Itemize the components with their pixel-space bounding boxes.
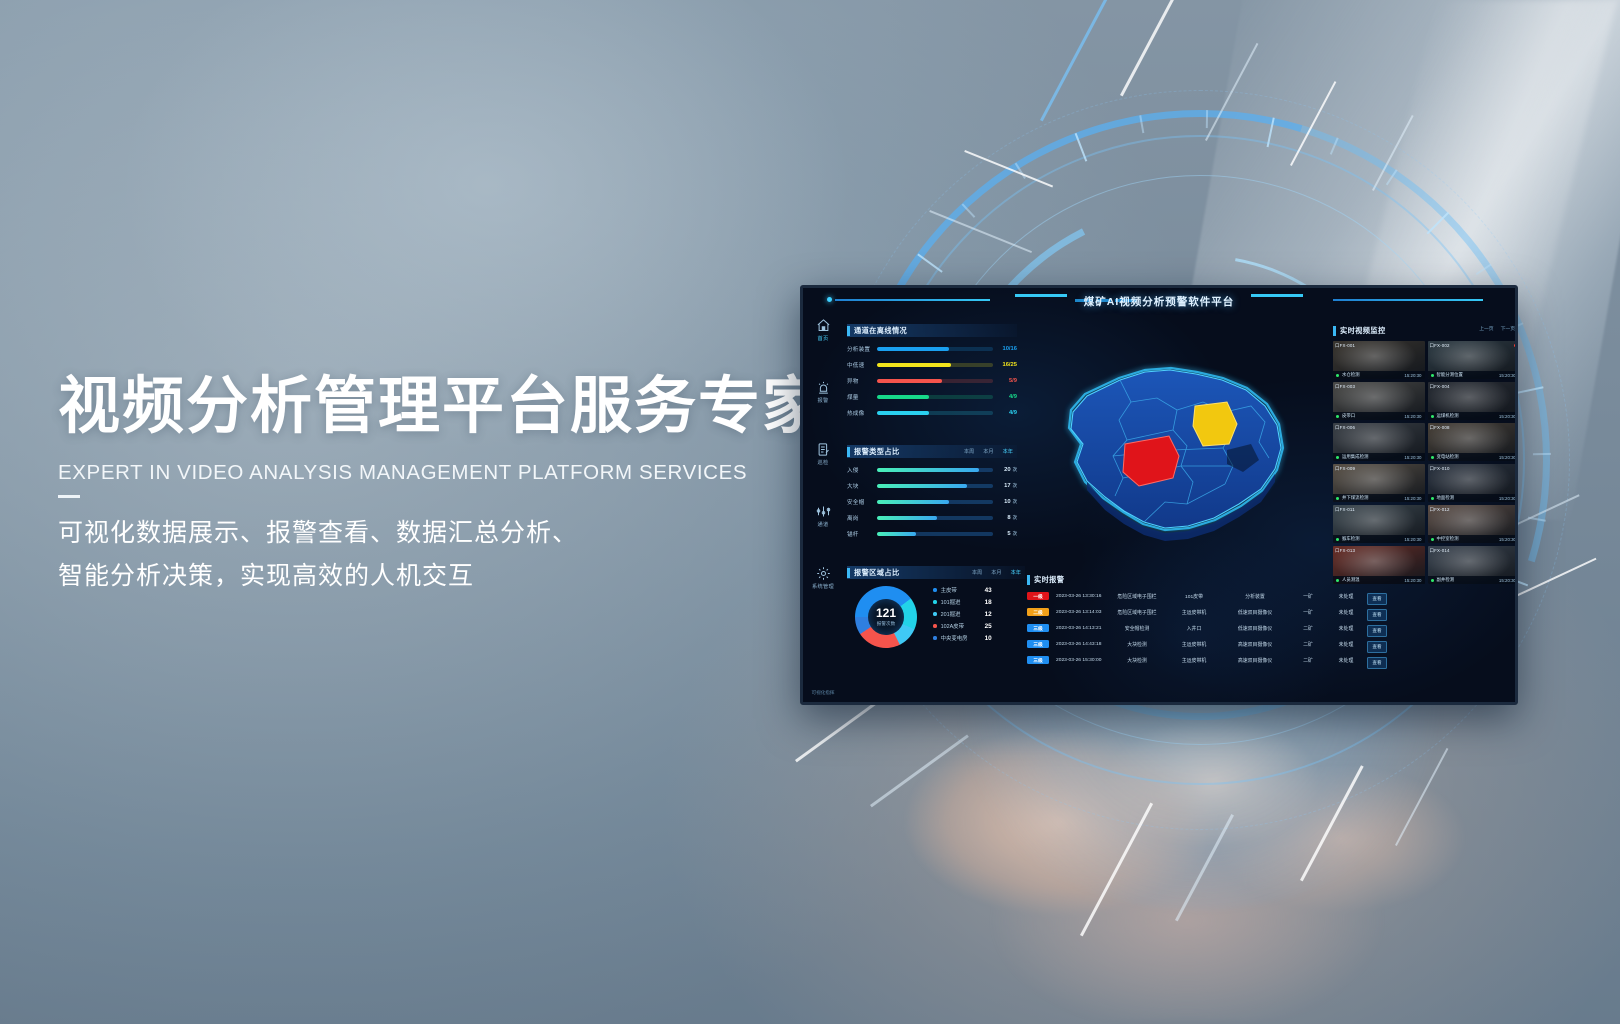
- alarm-time: 2023-03-26 13:30:16: [1056, 594, 1108, 599]
- camera-name: 猴车检测: [1342, 536, 1404, 542]
- legend-value: 43: [985, 587, 992, 594]
- progress-fill: [877, 411, 929, 416]
- panel-channel-status: 通道在离线情况 分析装置10/16中低速16/25异物5/9煤量4/9热成像4/…: [847, 324, 1017, 421]
- channel-row: 热成像4/9: [847, 405, 1017, 421]
- alarm-time: 2023-03-26 15:30:00: [1056, 658, 1108, 663]
- legend-color-dot: [933, 612, 937, 616]
- alarm-mine: 一矿: [1288, 609, 1328, 616]
- alarm-type: 安全帽检测: [1108, 625, 1166, 632]
- channel-label: 异物: [847, 377, 877, 385]
- alarm-status: 未处理: [1328, 593, 1364, 600]
- progress-fill: [877, 363, 951, 368]
- china-province-map[interactable]: [1027, 332, 1327, 567]
- channel-value: 10/16: [993, 346, 1017, 352]
- alarm-status: 未处理: [1328, 657, 1364, 664]
- camera-code: 口FX-010: [1430, 466, 1450, 472]
- ring-tick: [1476, 263, 1492, 275]
- map-svg: [1027, 332, 1327, 567]
- progress-fill: [877, 516, 937, 521]
- panel-video-monitor: 实时视频监控 上一页 下一页 口FX-001水仓检测15:20:30口FX-00…: [1333, 324, 1518, 584]
- alarm-table: 一级2023-03-26 13:30:16危险区域电子围栏101皮带分析装置一矿…: [1027, 588, 1518, 668]
- alarm-type-row: 锚杆5次: [847, 526, 1017, 542]
- alarm-type: 危险区域电子围栏: [1108, 593, 1166, 600]
- status-badge: 一级: [1027, 592, 1049, 601]
- camera-name: 变电站检测: [1437, 454, 1499, 460]
- alarm-mine: 一矿: [1288, 593, 1328, 600]
- ring-tick: [1514, 386, 1544, 394]
- video-grid: 口FX-001水仓检测15:20:30口FX-002智能分测位置15:20:30…: [1333, 341, 1518, 584]
- legend-item: 102A皮带25: [933, 620, 1023, 632]
- status-badge: 二级: [1027, 608, 1049, 617]
- ring-tick: [1533, 453, 1551, 455]
- channel-row: 异物5/9: [847, 373, 1017, 389]
- camera-name: 皮带口: [1342, 413, 1404, 419]
- sidebar-item-gear[interactable]: 系统管理: [803, 566, 843, 590]
- progress-fill: [877, 500, 949, 505]
- camera-time: 15:20:30: [1404, 414, 1421, 419]
- hero-desc-line-2: 智能分析决策，实现高效的人机交互: [58, 555, 818, 598]
- progress-bar: [877, 468, 993, 473]
- panel-header: 报警区域占比 本周本月本年: [847, 566, 1025, 579]
- panel-title: 报警区域占比: [854, 568, 900, 578]
- progress-bar: [877, 411, 993, 416]
- monitor-stand: [1104, 702, 1214, 705]
- alarm-type-label: 安全帽: [847, 498, 877, 506]
- unit-label: 次: [1013, 531, 1017, 536]
- table-row[interactable]: 三级2023-03-26 15:30:00大块检测主运皮带机高速双目摄像仪二矿未…: [1027, 652, 1518, 668]
- camera-code: 口FX-014: [1430, 548, 1450, 554]
- video-tile[interactable]: 口FX-008变电站检测15:20:30: [1428, 423, 1519, 461]
- unit-label: 次: [1013, 515, 1017, 520]
- online-status-dot: [1431, 456, 1434, 459]
- legend-item: 中央变电房10: [933, 632, 1023, 644]
- video-caption-bar: 皮带口15:20:30: [1333, 412, 1425, 420]
- camera-time: 15:20:30: [1499, 496, 1516, 501]
- alarm-type-label: 大块: [847, 482, 877, 490]
- panel-header: 实时视频监控 上一页 下一页: [1333, 324, 1518, 337]
- camera-code: 口FX-008: [1430, 425, 1450, 431]
- video-tile[interactable]: 口FX-004运煤机检测15:20:30: [1428, 382, 1519, 420]
- tab-本年[interactable]: 本年: [1003, 448, 1013, 455]
- alarm-type-value: 17次: [993, 483, 1017, 489]
- alarm-type-value: 20次: [993, 467, 1017, 473]
- legend-label: 中央变电房: [941, 634, 985, 642]
- camera-time: 15:20:30: [1404, 455, 1421, 460]
- panel-title: 报警类型占比: [854, 447, 900, 457]
- panel-header: 通道在离线情况: [847, 324, 1017, 337]
- table-row[interactable]: 一级2023-03-26 13:30:16危险区域电子围栏101皮带分析装置一矿…: [1027, 588, 1518, 604]
- online-status-dot: [1336, 538, 1339, 541]
- legend-label: 101掘进: [941, 598, 985, 606]
- legend-item: 101掘进18: [933, 596, 1023, 608]
- dashboard-title: 煤矿AI视频分析预警软件平台: [803, 294, 1515, 309]
- alarm-device: 低速双目摄像仪: [1222, 625, 1288, 632]
- alarm-type-row: 安全帽10次: [847, 494, 1017, 510]
- channel-row: 中低速16/25: [847, 357, 1017, 373]
- tab-本周[interactable]: 本周: [964, 448, 974, 455]
- tab-本月[interactable]: 本月: [991, 569, 1001, 576]
- progress-bar: [877, 500, 993, 505]
- panel-title: 实时报警: [1034, 575, 1064, 585]
- panel-realtime-alarm: 实时报警 一级2023-03-26 13:30:16危险区域电子围栏101皮带分…: [1027, 573, 1518, 668]
- screen-topbar: 煤矿AI视频分析预警软件平台: [803, 288, 1515, 316]
- status-badge: 三级: [1027, 656, 1049, 665]
- hero-desc-line-1: 可视化数据展示、报警查看、数据汇总分析、: [58, 512, 818, 555]
- video-caption-bar: 地面检测15:20:30: [1428, 494, 1519, 502]
- alarm-type-row: 大块17次: [847, 478, 1017, 494]
- legend-value: 25: [985, 623, 992, 630]
- progress-fill: [877, 532, 916, 537]
- tab-本周[interactable]: 本周: [972, 569, 982, 576]
- video-caption-bar: 水仓检测15:20:30: [1333, 371, 1425, 379]
- sidebar-item-label: 报警: [803, 397, 843, 404]
- ring-tick: [1206, 110, 1208, 128]
- alarm-device: 高速双目摄像仪: [1222, 657, 1288, 664]
- channel-row: 煤量4/9: [847, 389, 1017, 405]
- alarm-device: 分析装置: [1222, 593, 1288, 600]
- camera-code: 口FX-001: [1335, 343, 1355, 349]
- video-caption-bar: 运用集成检测15:20:30: [1333, 453, 1425, 461]
- legend-value: 12: [985, 611, 992, 618]
- camera-name: 井下煤流检测: [1342, 495, 1404, 501]
- patrol-icon: [816, 442, 831, 457]
- dashboard-monitor: 煤矿AI视频分析预警软件平台 首页报警巡检通道系统管理 可视化指挥 通道在离线情…: [800, 285, 1518, 705]
- panel-header: 实时报警: [1027, 573, 1518, 586]
- legend-item: 201掘进12: [933, 608, 1023, 620]
- progress-bar: [877, 516, 993, 521]
- progress-bar: [877, 532, 993, 537]
- channel-value: 16/25: [993, 362, 1017, 368]
- sidebar-item-label: 巡检: [803, 459, 843, 466]
- panel-alarm-type: 报警类型占比 本周本月本年 入侵20次大块17次安全帽10次离岗8次锚杆5次: [847, 445, 1017, 542]
- alarm-location: 入井口: [1166, 625, 1222, 632]
- progress-fill: [877, 395, 929, 400]
- alarm-time: 2023-03-26 14:13:21: [1056, 626, 1108, 631]
- hero-copy: 视频分析管理平台服务专家 EXPERT IN VIDEO ANALYSIS MA…: [58, 372, 818, 598]
- camera-code: 口FX-011: [1335, 507, 1355, 513]
- ring-tick: [962, 203, 976, 218]
- channel-value: 4/9: [993, 394, 1017, 400]
- table-row[interactable]: 二级2023-03-26 13:14:03危险区域电子围栏主运皮带机低速双目摄像…: [1027, 604, 1518, 620]
- donut-ring: 121 报警次数: [855, 586, 917, 648]
- video-caption-bar: 变电站检测15:20:30: [1428, 453, 1519, 461]
- camera-name: 中控室检测: [1437, 536, 1499, 542]
- alarm-time: 2023-03-26 14:43:18: [1056, 642, 1108, 647]
- camera-time: 15:20:30: [1499, 414, 1516, 419]
- progress-bar: [877, 484, 993, 489]
- status-badge: 三级: [1027, 624, 1049, 633]
- legend-color-dot: [933, 600, 937, 604]
- camera-name: 运煤机检测: [1437, 413, 1499, 419]
- alarm-type-label: 入侵: [847, 466, 877, 474]
- legend-label: 102A皮带: [941, 622, 985, 630]
- camera-code: 口FX-006: [1335, 425, 1355, 431]
- alarm-type-rows: 入侵20次大块17次安全帽10次离岗8次锚杆5次: [847, 462, 1017, 542]
- legend-label: 201掘进: [941, 610, 985, 618]
- panel-header: 报警类型占比 本周本月本年: [847, 445, 1017, 458]
- channel-value: 4/9: [993, 410, 1017, 416]
- online-status-dot: [1336, 456, 1339, 459]
- alarm-type: 大块检测: [1108, 657, 1166, 664]
- ring-tick: [1267, 117, 1275, 147]
- channel-label: 热成像: [847, 409, 877, 417]
- ring-tick: [1386, 169, 1398, 185]
- video-tile[interactable]: 口FX-006运用集成检测15:20:30: [1333, 423, 1425, 461]
- donut-total: 121: [876, 607, 896, 619]
- legend-value: 18: [985, 599, 992, 606]
- video-pager[interactable]: 上一页 下一页: [1479, 325, 1515, 332]
- ring-tick: [1075, 133, 1088, 162]
- alarm-type-label: 锚杆: [847, 530, 877, 538]
- online-status-dot: [1431, 497, 1434, 500]
- alarm-time: 2023-03-26 13:14:03: [1056, 610, 1108, 615]
- alarm-location: 主运皮带机: [1166, 641, 1222, 648]
- online-status-dot: [1431, 415, 1434, 418]
- panel-alarm-area: 报警区域占比 本周本月本年 121 报警次数 主皮带43101掘进18201掘进…: [847, 566, 1025, 579]
- donut-center: 121 报警次数: [868, 599, 904, 635]
- next-page-button[interactable]: 下一页: [1501, 325, 1515, 332]
- dashboard-sidebar: 首页报警巡检通道系统管理: [803, 312, 843, 702]
- online-status-dot: [1431, 374, 1434, 377]
- channel-row: 分析装置10/16: [847, 341, 1017, 357]
- legend-label: 主皮带: [941, 586, 985, 594]
- camera-name: 地面检测: [1437, 495, 1499, 501]
- camera-code: 口FX-004: [1430, 384, 1450, 390]
- video-caption-bar: 运煤机检测15:20:30: [1428, 412, 1519, 420]
- camera-time: 15:20:30: [1499, 455, 1516, 460]
- alarm-status: 未处理: [1328, 625, 1364, 632]
- sidebar-item-label: 通道: [803, 521, 843, 528]
- ring-tick: [1330, 137, 1339, 154]
- donut-chart: 121 报警次数: [855, 586, 917, 648]
- sidebar-item-label: 系统管理: [803, 583, 843, 590]
- camera-name: 运用集成检测: [1342, 454, 1404, 460]
- legend-color-dot: [933, 624, 937, 628]
- progress-bar: [877, 379, 993, 384]
- video-caption-bar: 猴车检测15:20:30: [1333, 535, 1425, 543]
- online-status-dot: [1336, 415, 1339, 418]
- recording-indicator: [1514, 344, 1517, 347]
- ring-tick: [1139, 115, 1144, 133]
- divider: [58, 495, 80, 498]
- panel-title: 通道在离线情况: [854, 326, 907, 336]
- alarm-type-row: 离岗8次: [847, 510, 1017, 526]
- prev-page-button[interactable]: 上一页: [1479, 325, 1493, 332]
- donut-caption: 报警次数: [877, 621, 895, 627]
- channel-icon: [816, 504, 831, 519]
- progress-fill: [877, 484, 967, 489]
- online-status-dot: [1336, 374, 1339, 377]
- table-row[interactable]: 三级2023-03-26 14:43:18大块检测主运皮带机高速双目摄像仪二矿未…: [1027, 636, 1518, 652]
- unit-label: 次: [1013, 499, 1017, 504]
- video-tile[interactable]: 口FX-003皮带口15:20:30: [1333, 382, 1425, 420]
- progress-fill: [877, 379, 942, 384]
- video-tile[interactable]: 口FX-009井下煤流检测15:20:30: [1333, 464, 1425, 502]
- donut-legend: 主皮带43101掘进18201掘进12102A皮带25中央变电房10: [933, 584, 1023, 644]
- sidebar-item-patrol[interactable]: 巡检: [803, 442, 843, 466]
- video-tile[interactable]: 口FX-002智能分测位置15:20:30: [1428, 341, 1519, 379]
- map-region-highlight-yellow: [1193, 402, 1237, 446]
- video-caption-bar: 智能分测位置15:20:30: [1428, 371, 1519, 379]
- online-status-dot: [1336, 497, 1339, 500]
- alarm-type: 大块检测: [1108, 641, 1166, 648]
- status-badge: 三级: [1027, 640, 1049, 649]
- sidebar-item-alarm[interactable]: 报警: [803, 380, 843, 404]
- tab-本年[interactable]: 本年: [1011, 569, 1021, 576]
- camera-code: 口FX-002: [1430, 343, 1450, 349]
- tab-本月[interactable]: 本月: [983, 448, 993, 455]
- camera-time: 15:20:30: [1404, 537, 1421, 542]
- channel-label: 中低速: [847, 361, 877, 369]
- table-row[interactable]: 三级2023-03-26 14:13:21安全帽检测入井口低速双目摄像仪二矿未处…: [1027, 620, 1518, 636]
- camera-time: 15:20:30: [1404, 373, 1421, 378]
- channel-label: 煤量: [847, 393, 877, 401]
- progress-fill: [877, 468, 979, 473]
- alarm-type-value: 10次: [993, 499, 1017, 505]
- ring-tick: [917, 253, 942, 272]
- video-caption-bar: 中控室检测15:20:30: [1428, 535, 1519, 543]
- page-title: 视频分析管理平台服务专家: [58, 372, 818, 441]
- video-tile[interactable]: 口FX-011猴车检测15:20:30: [1333, 505, 1425, 543]
- alarm-type: 危险区域电子围栏: [1108, 609, 1166, 616]
- view-button[interactable]: 查看: [1367, 657, 1386, 668]
- sidebar-item-home[interactable]: 首页: [803, 318, 843, 342]
- progress-bar: [877, 395, 993, 400]
- sidebar-item-channel[interactable]: 通道: [803, 504, 843, 528]
- legend-item: 主皮带43: [933, 584, 1023, 596]
- video-tile[interactable]: 口FX-012中控室检测15:20:30: [1428, 505, 1519, 543]
- camera-name: 水仓检测: [1342, 372, 1404, 378]
- alarm-mine: 二矿: [1288, 641, 1328, 648]
- progress-bar: [877, 363, 993, 368]
- camera-time: 15:20:30: [1499, 537, 1516, 542]
- map-region-highlight-red: [1123, 436, 1179, 486]
- alarm-type-label: 离岗: [847, 514, 877, 522]
- alarm-location: 主运皮带机: [1166, 609, 1222, 616]
- unit-label: 次: [1013, 483, 1017, 488]
- camera-code: 口FX-012: [1430, 507, 1450, 513]
- alarm-status: 未处理: [1328, 609, 1364, 616]
- hero-subtitle: EXPERT IN VIDEO ANALYSIS MANAGEMENT PLAT…: [58, 461, 818, 485]
- alarm-action[interactable]: 查看: [1364, 651, 1390, 669]
- progress-fill: [877, 347, 949, 352]
- video-tile[interactable]: 口FX-010地面检测15:20:30: [1428, 464, 1519, 502]
- channel-value: 5/9: [993, 378, 1017, 384]
- alarm-mine: 二矿: [1288, 625, 1328, 632]
- alarm-mine: 二矿: [1288, 657, 1328, 664]
- alarm-location: 101皮带: [1166, 593, 1222, 600]
- camera-code: 口FX-013: [1335, 548, 1355, 554]
- gear-icon: [816, 566, 831, 581]
- video-tile[interactable]: 口FX-001水仓检测15:20:30: [1333, 341, 1425, 379]
- home-icon: [816, 318, 831, 333]
- camera-code: 口FX-009: [1335, 466, 1355, 472]
- unit-label: 次: [1013, 467, 1017, 472]
- camera-time: 15:20:30: [1404, 496, 1421, 501]
- alarm-location: 主运皮带机: [1166, 657, 1222, 664]
- panel-title: 实时视频监控: [1340, 326, 1386, 336]
- alarm-device: 低速双目摄像仪: [1222, 609, 1288, 616]
- banner-stage: 视频分析管理平台服务专家 EXPERT IN VIDEO ANALYSIS MA…: [0, 0, 1620, 1024]
- alarm-type-value: 8次: [993, 515, 1017, 521]
- camera-name: 智能分测位置: [1437, 372, 1499, 378]
- alarm-status: 未处理: [1328, 641, 1364, 648]
- sidebar-item-label: 首页: [803, 335, 843, 342]
- corner-label: 可视化指挥: [809, 690, 837, 696]
- channel-rows: 分析装置10/16中低速16/25异物5/9煤量4/9热成像4/9: [847, 341, 1017, 421]
- panel-tabs[interactable]: 本周本月本年: [972, 569, 1021, 576]
- alarm-type-row: 入侵20次: [847, 462, 1017, 478]
- alarm-type-value: 5次: [993, 531, 1017, 537]
- progress-bar: [877, 347, 993, 352]
- panel-tabs[interactable]: 本周本月本年: [964, 448, 1013, 455]
- camera-time: 15:20:30: [1499, 373, 1516, 378]
- alarm-device: 高速双目摄像仪: [1222, 641, 1288, 648]
- legend-value: 10: [985, 635, 992, 642]
- ring-tick: [1427, 212, 1450, 235]
- legend-color-dot: [933, 588, 937, 592]
- alarm-icon: [816, 380, 831, 395]
- channel-label: 分析装置: [847, 345, 877, 353]
- camera-code: 口FX-003: [1335, 384, 1355, 390]
- online-status-dot: [1431, 538, 1434, 541]
- video-caption-bar: 井下煤流检测15:20:30: [1333, 494, 1425, 502]
- legend-color-dot: [933, 636, 937, 640]
